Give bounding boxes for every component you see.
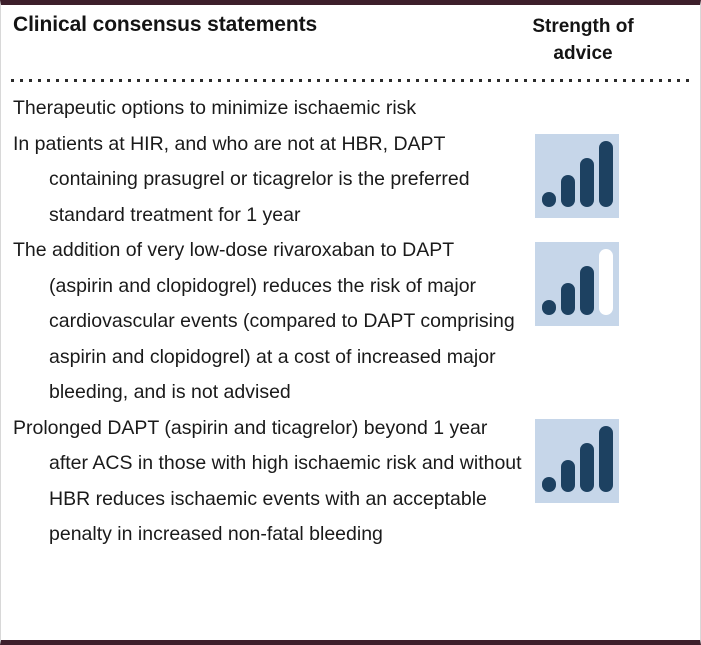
bar-chart-3-of-4-icon <box>535 242 619 326</box>
strength-cell <box>529 233 700 234</box>
table-row: In patients at HIR, and who are not at H… <box>1 127 700 234</box>
bar-segment-4 <box>599 426 613 492</box>
section-heading-text: Therapeutic options to minimize ischaemi… <box>13 91 523 127</box>
statement-cell: Prolonged DAPT (aspirin and ticagrelor) … <box>1 411 529 553</box>
strength-cell <box>529 411 700 412</box>
table-row: Prolonged DAPT (aspirin and ticagrelor) … <box>1 411 700 553</box>
bar-segment-1 <box>542 477 556 492</box>
column-header-strength-of-advice-line2: advice <box>488 40 678 67</box>
table-header: Clinical consensus statements Strength o… <box>1 5 700 77</box>
bar-segment-4-empty <box>599 249 613 315</box>
bar-segment-1 <box>542 192 556 207</box>
header-divider-dotted-rule <box>11 79 692 82</box>
statement-cell: The addition of very low-dose rivaroxaba… <box>1 233 529 411</box>
bar-segment-4 <box>599 141 613 207</box>
section-heading-cell: Therapeutic options to minimize ischaemi… <box>1 91 529 127</box>
bar-chart-4-of-4-icon <box>535 134 619 218</box>
column-header-strength-of-advice: Strength of advice <box>488 13 678 67</box>
statement-text: The addition of very low-dose rivaroxaba… <box>13 233 523 411</box>
section-heading-badge-cell <box>529 91 700 92</box>
consensus-statements-table: Clinical consensus statements Strength o… <box>0 0 701 645</box>
statement-text: Prolonged DAPT (aspirin and ticagrelor) … <box>13 411 523 553</box>
bar-segment-3 <box>580 443 594 492</box>
bar-segment-2 <box>561 175 575 207</box>
table-body: Therapeutic options to minimize ischaemi… <box>1 91 700 640</box>
bar-segment-2 <box>561 283 575 315</box>
bar-segment-2 <box>561 460 575 492</box>
bar-chart-4-of-4-icon <box>535 419 619 503</box>
column-header-clinical-consensus-statements: Clinical consensus statements <box>13 13 317 37</box>
bar-segment-3 <box>580 158 594 207</box>
strength-cell <box>529 127 700 128</box>
statement-cell: In patients at HIR, and who are not at H… <box>1 127 529 234</box>
statement-text: In patients at HIR, and who are not at H… <box>13 127 523 234</box>
bar-segment-3 <box>580 266 594 315</box>
section-heading-row: Therapeutic options to minimize ischaemi… <box>1 91 700 127</box>
table-row: The addition of very low-dose rivaroxaba… <box>1 233 700 411</box>
bar-segment-1 <box>542 300 556 315</box>
column-header-strength-of-advice-line1: Strength of <box>488 13 678 40</box>
